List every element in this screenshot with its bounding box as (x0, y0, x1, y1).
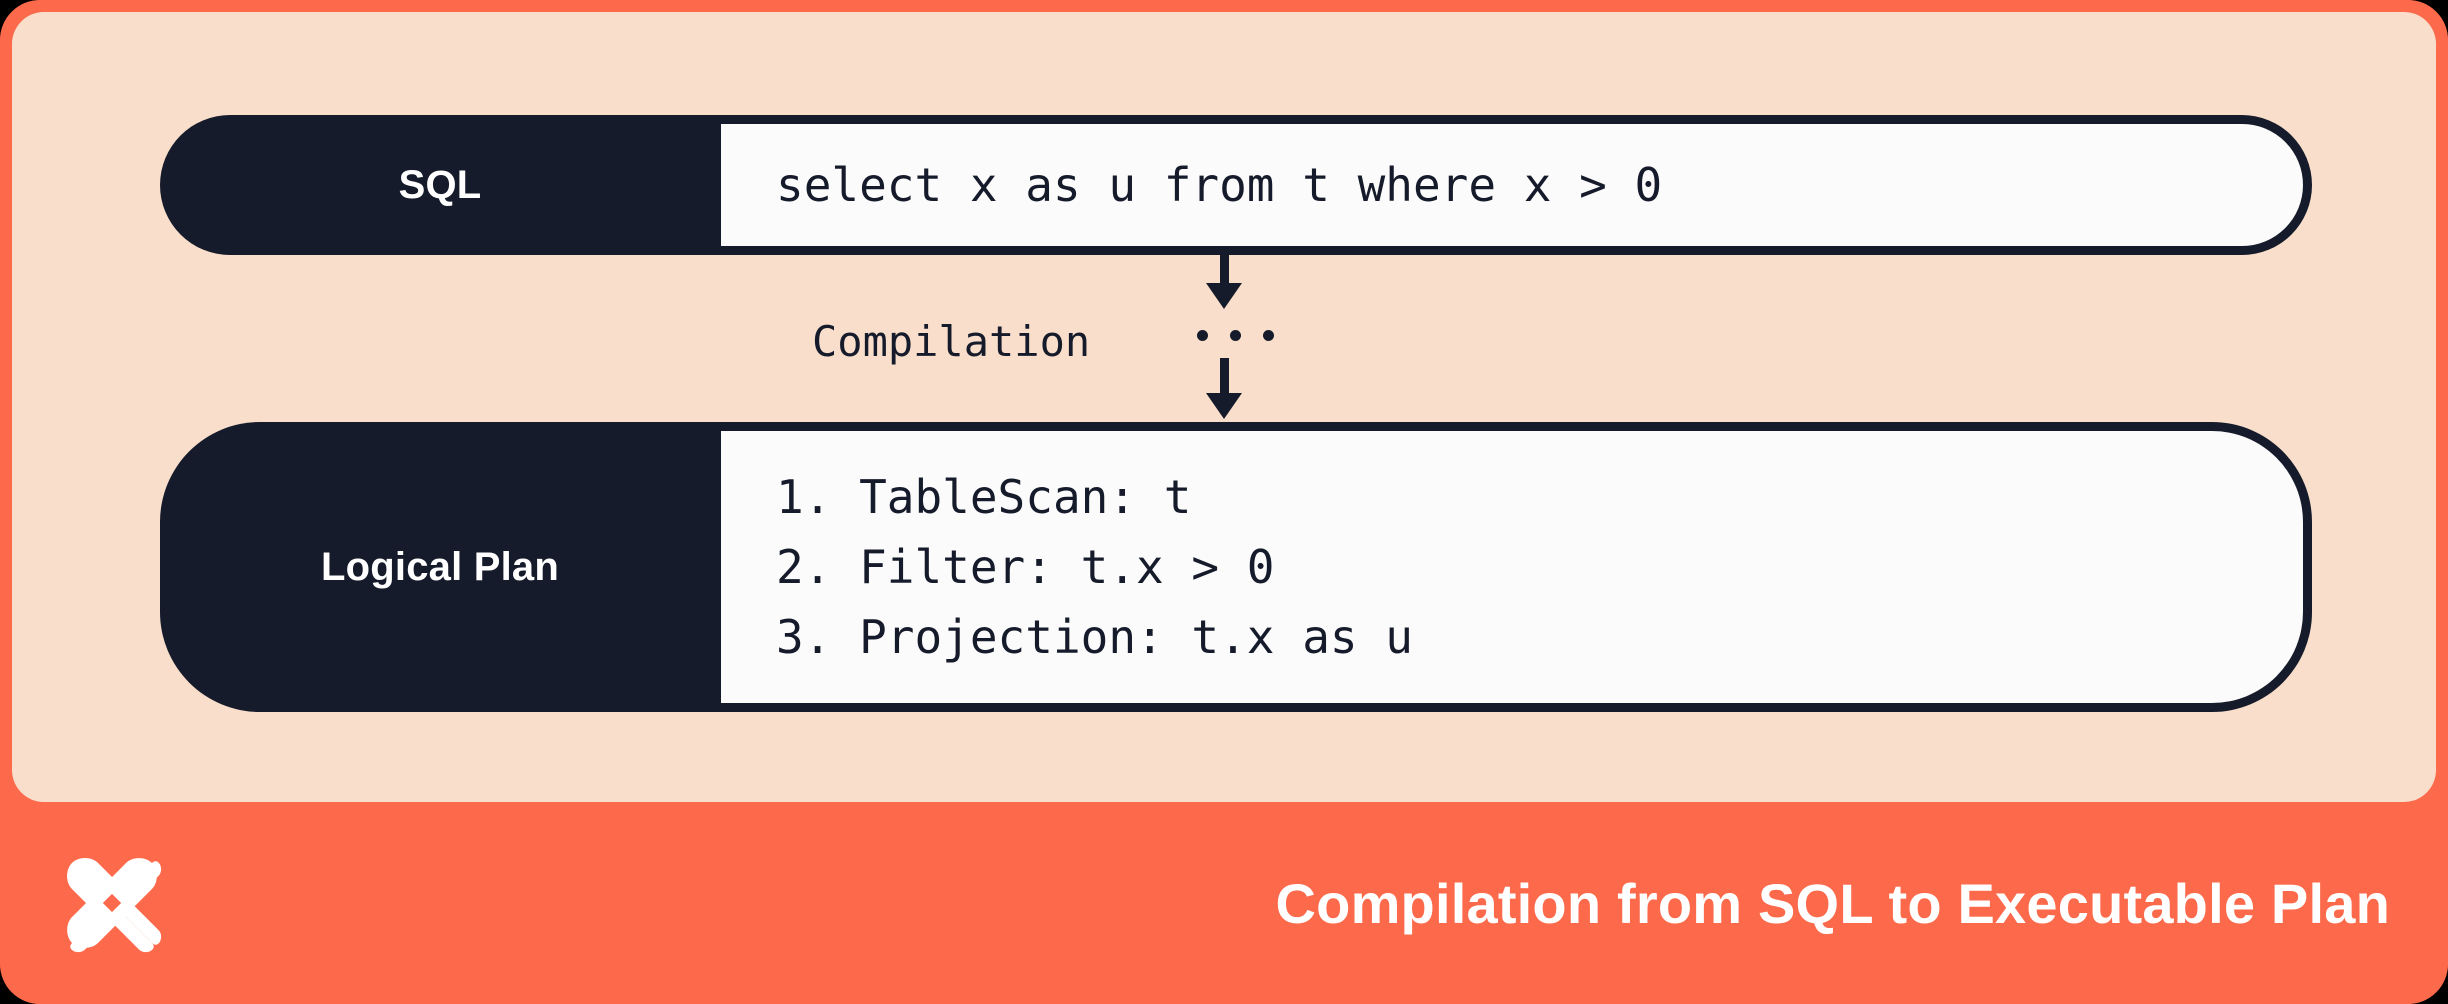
x-star-logo-icon (58, 849, 166, 957)
logical-plan-label-cell: Logical Plan (160, 422, 720, 712)
footer-title: Compilation from SQL to Executable Plan (1276, 871, 2390, 936)
plan-step-2: 2. Filter: t.x > 0 (776, 532, 2303, 602)
plan-step-1: 1. TableScan: t (776, 462, 2303, 532)
plan-step-3: 3. Projection: t.x as u (776, 602, 2303, 672)
compilation-label: Compilation (812, 317, 1090, 366)
sql-label-cell: SQL (160, 115, 720, 255)
sql-label-text: SQL (399, 163, 482, 208)
ellipsis-dot (1197, 330, 1208, 341)
ellipsis-icon (1197, 330, 1274, 341)
logical-plan-content-cell: 1. TableScan: t 2. Filter: t.x > 0 3. Pr… (720, 422, 2312, 712)
sql-row: SQL select x as u from t where x > 0 (160, 115, 2312, 255)
ellipsis-dot (1263, 330, 1274, 341)
sql-code-text: select x as u from t where x > 0 (776, 162, 2303, 208)
arrow-down-top-head-icon (1206, 283, 1242, 309)
content-panel: SQL select x as u from t where x > 0 Com… (12, 12, 2436, 802)
footer-bar: Compilation from SQL to Executable Plan (0, 802, 2448, 1004)
sql-content-cell: select x as u from t where x > 0 (720, 115, 2312, 255)
ellipsis-dot (1230, 330, 1241, 341)
arrow-down-bottom-head-icon (1206, 393, 1242, 419)
logical-plan-row: Logical Plan 1. TableScan: t 2. Filter: … (160, 422, 2312, 712)
poster-canvas: SQL select x as u from t where x > 0 Com… (0, 0, 2448, 1004)
logical-plan-label-text: Logical Plan (321, 545, 559, 590)
arrow-down-bottom-stem (1220, 358, 1229, 398)
